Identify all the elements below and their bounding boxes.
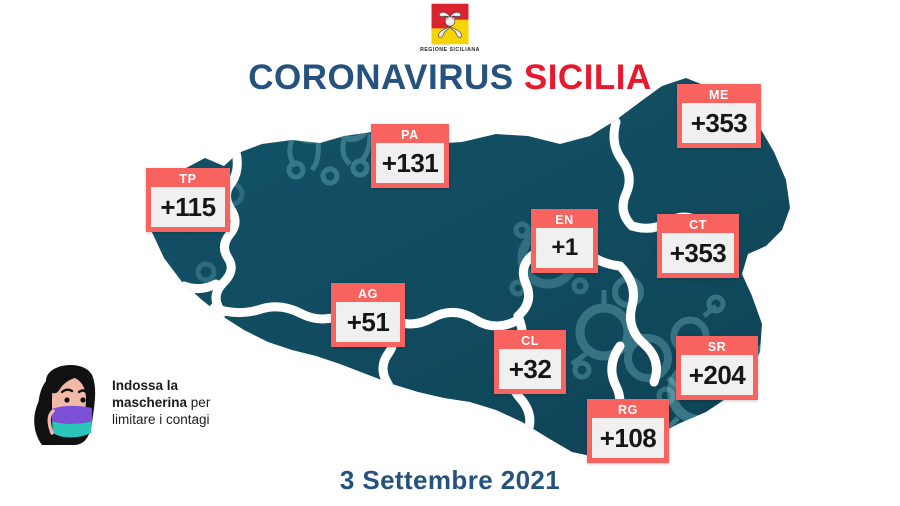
province-card-pa[interactable]: PA +131 bbox=[371, 124, 449, 188]
province-value-ag: +51 bbox=[336, 302, 400, 342]
province-code-sr: SR bbox=[681, 340, 753, 355]
province-code-ag: AG bbox=[336, 287, 400, 302]
province-value-cl: +32 bbox=[499, 349, 561, 389]
province-value-ct: +353 bbox=[662, 233, 734, 273]
mask-notice-line2-rest: per bbox=[187, 395, 210, 410]
mask-notice-text: Indossa la mascherina per limitare i con… bbox=[112, 377, 272, 428]
province-value-en: +1 bbox=[536, 228, 593, 268]
province-card-me[interactable]: ME +353 bbox=[677, 84, 761, 148]
province-card-cl[interactable]: CL +32 bbox=[494, 330, 566, 394]
mask-notice-line2-bold: mascherina bbox=[112, 395, 187, 410]
province-value-rg: +108 bbox=[592, 418, 664, 458]
province-code-ct: CT bbox=[662, 218, 734, 233]
province-card-tp[interactable]: TP +115 bbox=[146, 168, 230, 232]
province-card-rg[interactable]: RG +108 bbox=[587, 399, 669, 463]
province-code-tp: TP bbox=[151, 172, 225, 187]
province-value-tp: +115 bbox=[151, 187, 225, 227]
province-code-en: EN bbox=[536, 213, 593, 228]
province-code-rg: RG bbox=[592, 403, 664, 418]
province-card-en[interactable]: EN +1 bbox=[531, 209, 598, 273]
province-card-sr[interactable]: SR +204 bbox=[676, 336, 758, 400]
province-value-me: +353 bbox=[682, 103, 756, 143]
province-code-me: ME bbox=[682, 88, 756, 103]
province-card-ag[interactable]: AG +51 bbox=[331, 283, 405, 347]
province-code-pa: PA bbox=[376, 128, 444, 143]
province-value-sr: +204 bbox=[681, 355, 753, 395]
mask-notice-line3: limitare i contagi bbox=[112, 412, 210, 427]
province-card-ct[interactable]: CT +353 bbox=[657, 214, 739, 278]
province-code-cl: CL bbox=[499, 334, 561, 349]
mask-notice-line1: Indossa la bbox=[112, 378, 178, 393]
mask-notice: Indossa la mascherina per limitare i con… bbox=[22, 355, 272, 450]
infographic-root: REGIONE SICILIANA CORONAVIRUS SICILIA bbox=[0, 0, 900, 506]
report-date: 3 Settembre 2021 bbox=[0, 465, 900, 496]
person-wearing-mask-icon bbox=[22, 355, 112, 447]
province-value-pa: +131 bbox=[376, 143, 444, 183]
